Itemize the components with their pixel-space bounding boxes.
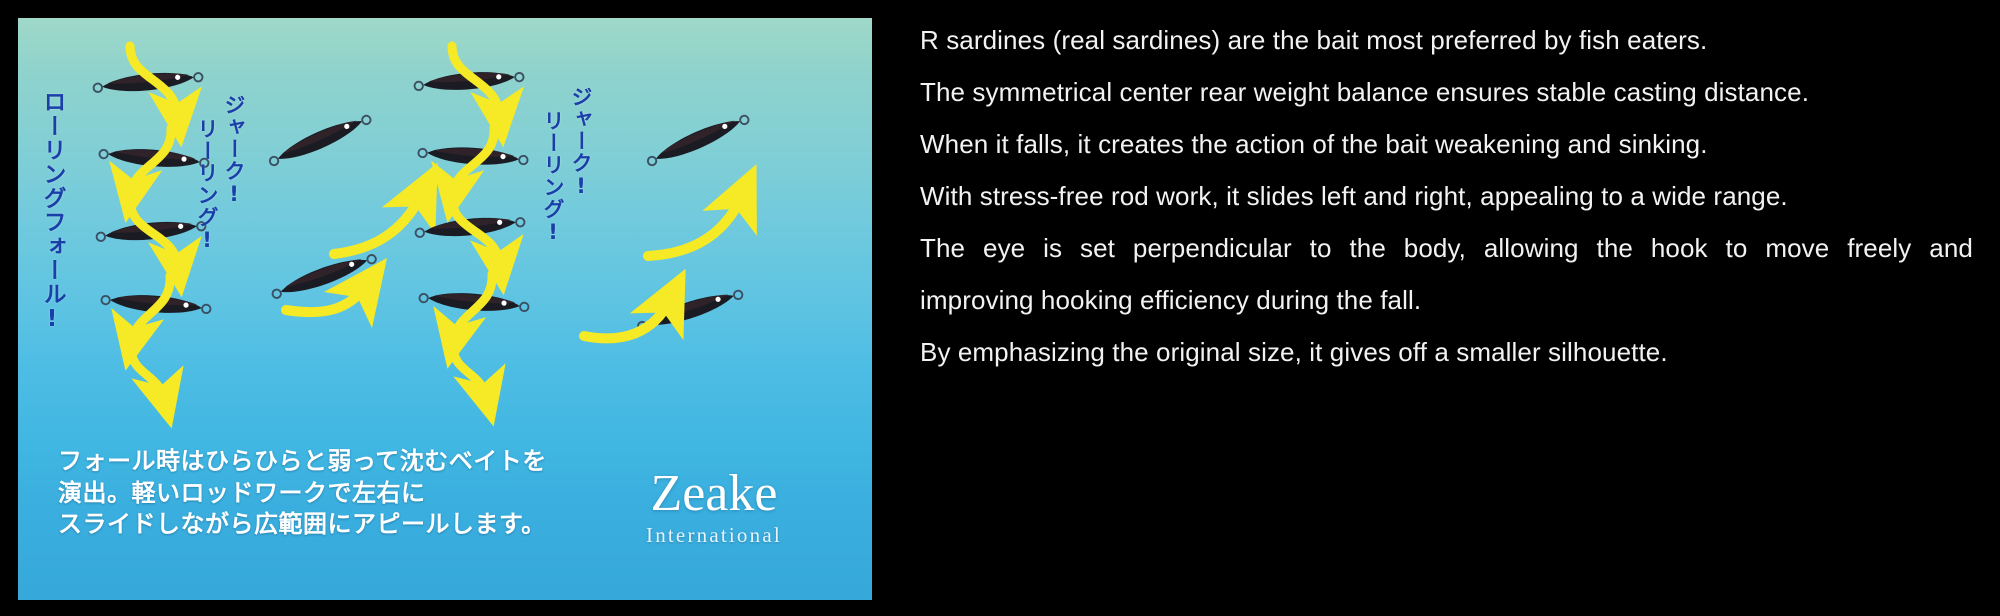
label-jerk-2: ジャーク! xyxy=(570,86,591,199)
fall-arrow-l5 xyxy=(131,348,164,398)
label-reeling-2: リーリング! xyxy=(542,110,563,245)
label-reeling-1: リーリング! xyxy=(196,118,217,253)
jerk-arrow-f2 xyxy=(584,300,670,338)
description-line: R sardines (real sardines) are the bait … xyxy=(920,14,1980,66)
japanese-caption-line: 演出。軽いロッドワークで左右に xyxy=(58,478,558,510)
japanese-caption: フォール時はひらひらと弱って沈むベイトを 演出。軽いロッドワークで左右に スライ… xyxy=(58,446,558,541)
jerk-arrow-f1 xyxy=(648,196,742,256)
jig-mid-1 xyxy=(267,110,374,170)
jig-far-1 xyxy=(645,110,752,170)
fall-arrow-r5 xyxy=(453,346,486,396)
product-illustration-panel: ローリングフォール! ジャーク! リーリング! ジャーク! リーリング! フォー… xyxy=(18,18,872,600)
description-line: When it falls, it creates the action of … xyxy=(920,118,1980,170)
brand-subtitle: International xyxy=(646,523,782,548)
product-description: R sardines (real sardines) are the bait … xyxy=(920,14,1980,378)
description-line: improving hooking efficiency during the … xyxy=(920,274,1980,326)
brand-logo: Zeake International xyxy=(646,468,782,548)
description-line: The symmetrical center rear weight balan… xyxy=(920,66,1980,118)
japanese-caption-line: スライドしながら広範囲にアピールします。 xyxy=(58,509,558,541)
jerk-arrow-m1 xyxy=(334,194,422,254)
brand-name: Zeake xyxy=(646,468,782,520)
description-line: With stress-free rod work, it slides lef… xyxy=(920,170,1980,222)
description-line: By emphasizing the original size, it giv… xyxy=(920,326,1980,378)
screenshot-root: ローリングフォール! ジャーク! リーリング! ジャーク! リーリング! フォー… xyxy=(0,0,2000,616)
label-jerk-1: ジャーク! xyxy=(223,94,244,207)
label-rolling-fall: ローリングフォール! xyxy=(40,90,63,333)
japanese-caption-line: フォール時はひらひらと弱って沈むベイトを xyxy=(58,446,558,478)
description-line: The eye is set perpendicular to the body… xyxy=(920,222,1973,274)
